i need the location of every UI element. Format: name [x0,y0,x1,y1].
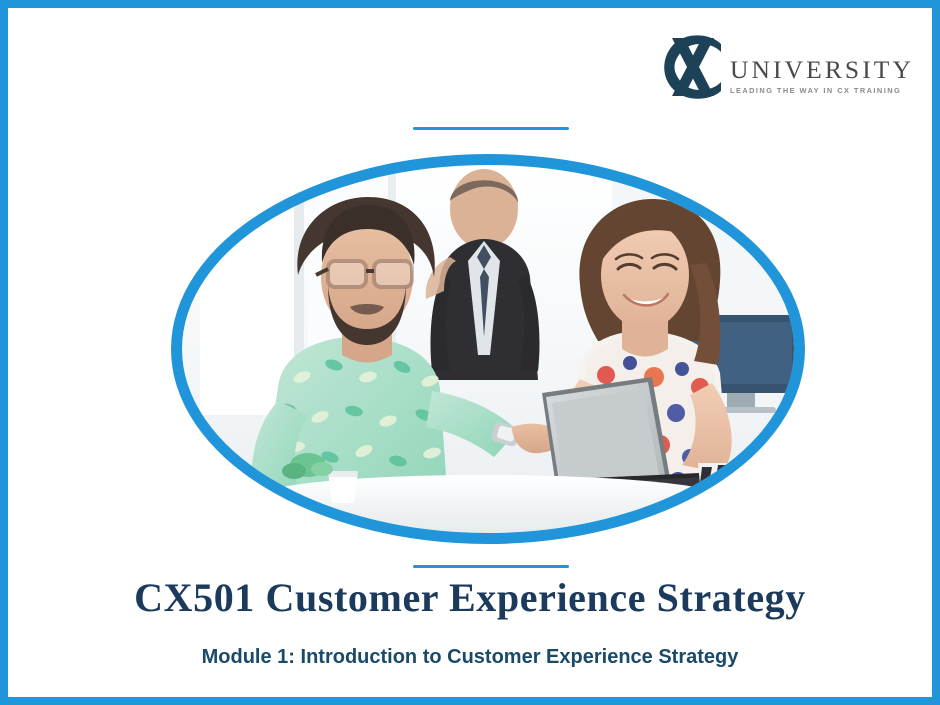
slide-content-area: UNIVERSITY LEADING THE WAY IN CX TRAININ… [8,8,932,697]
brand-logo: UNIVERSITY LEADING THE WAY IN CX TRAININ… [658,30,910,104]
accent-line-bottom [413,565,569,568]
hero-photo [182,165,794,533]
logo-wordmark-text: UNIVERSITY [730,57,912,83]
accent-line-top [413,127,569,130]
logo-wordmark-block: UNIVERSITY LEADING THE WAY IN CX TRAININ… [730,57,912,94]
slide-canvas: UNIVERSITY LEADING THE WAY IN CX TRAININ… [0,0,940,705]
office-scene-illustration [182,165,794,533]
hero-image-frame [171,154,805,544]
cx-monogram-icon [658,30,736,104]
page-title: CX501 Customer Experience Strategy [8,576,932,620]
page-subtitle: Module 1: Introduction to Customer Exper… [8,645,932,669]
logo-tagline-text: LEADING THE WAY IN CX TRAINING [730,87,912,94]
